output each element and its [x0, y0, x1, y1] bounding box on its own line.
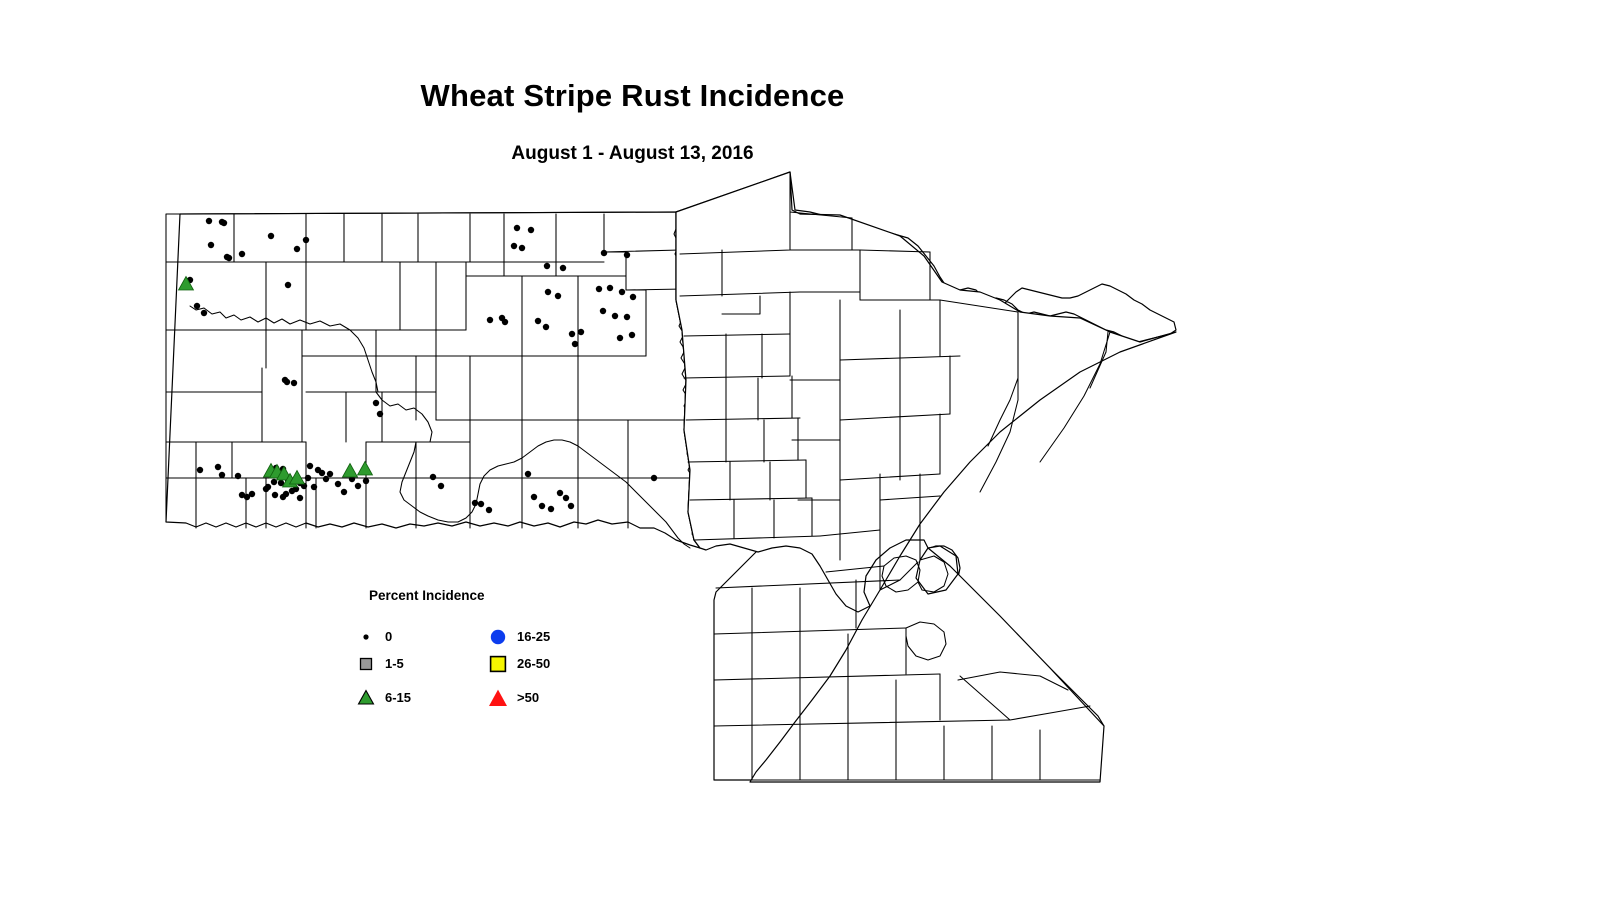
- map-point-0: [519, 245, 525, 251]
- map-point-0: [285, 282, 291, 288]
- legend-label-0: 0: [385, 629, 392, 644]
- map-point-0: [557, 490, 563, 496]
- nd-north-border: [180, 212, 676, 214]
- map-point-0: [284, 379, 290, 385]
- map-point-0: [272, 492, 278, 498]
- map-point-0: [601, 250, 607, 256]
- map-point-0: [297, 495, 303, 501]
- data-points-class-6-15: [179, 277, 373, 488]
- map-point-0: [545, 289, 551, 295]
- map-point-0: [630, 294, 636, 300]
- map-point-0: [578, 329, 584, 335]
- map-point-0: [528, 227, 534, 233]
- map-point-0: [373, 400, 379, 406]
- map-point-0: [629, 332, 635, 338]
- map-point-0: [543, 324, 549, 330]
- minnesota-boundary-main: [676, 172, 1176, 782]
- map-point-0: [215, 464, 221, 470]
- map-point-0: [303, 237, 309, 243]
- map-point-0: [235, 473, 241, 479]
- map-point-0: [535, 318, 541, 324]
- legend: Percent Incidence 0 1-5 6-15 16-25: [369, 588, 599, 718]
- map-counties-layer: [166, 172, 1176, 782]
- legend-label-gt50: >50: [517, 690, 539, 705]
- map-point-0: [377, 411, 383, 417]
- map-point-0: [487, 317, 493, 323]
- map-point-0: [430, 474, 436, 480]
- map-point-0: [268, 233, 274, 239]
- map-point-0: [363, 478, 369, 484]
- map-point-0: [311, 484, 317, 490]
- map-point-0: [486, 507, 492, 513]
- map-point-0: [355, 483, 361, 489]
- map-point-0: [263, 486, 269, 492]
- blue-circle-icon: [487, 626, 509, 648]
- map-point-0: [249, 491, 255, 497]
- map-point-0: [612, 313, 618, 319]
- map-point-0: [319, 470, 325, 476]
- map-point-0: [651, 475, 657, 481]
- map-point-0: [560, 265, 566, 271]
- map-page: Wheat Stripe Rust Incidence August 1 - A…: [0, 0, 1612, 900]
- small-dot-icon: [355, 626, 377, 648]
- map-point-0: [617, 335, 623, 341]
- map-point-0: [294, 246, 300, 252]
- legend-label-1-5: 1-5: [385, 656, 404, 671]
- map-point-0: [569, 331, 575, 337]
- map-point-0: [335, 481, 341, 487]
- map-point-0: [291, 380, 297, 386]
- legend-title: Percent Incidence: [369, 588, 485, 603]
- map-point-0: [327, 471, 333, 477]
- map-point-0: [525, 471, 531, 477]
- map-point-0: [600, 308, 606, 314]
- map-point-0: [531, 494, 537, 500]
- map-point-0: [568, 503, 574, 509]
- mn-line-s1: [716, 580, 900, 588]
- green-triangle-icon: [355, 687, 377, 709]
- map-point-0: [478, 501, 484, 507]
- map-point-0: [438, 483, 444, 489]
- map-point-6-15: [343, 464, 358, 478]
- map-point-0: [544, 263, 550, 269]
- legend-label-26-50: 26-50: [517, 656, 550, 671]
- legend-label-16-25: 16-25: [517, 629, 550, 644]
- map-point-0: [239, 251, 245, 257]
- lake-sakakawea-south: [376, 392, 432, 442]
- map-point-0: [514, 225, 520, 231]
- map-point-0: [555, 293, 561, 299]
- map-point-0: [323, 476, 329, 482]
- map-point-0: [341, 489, 347, 495]
- map-point-0: [607, 285, 613, 291]
- map-point-0: [208, 242, 214, 248]
- map-point-0: [502, 319, 508, 325]
- map-point-0: [624, 314, 630, 320]
- gray-square-icon: [355, 653, 377, 675]
- red-triangle-icon: [487, 687, 509, 709]
- map-point-0: [201, 310, 207, 316]
- map-point-0: [219, 472, 225, 478]
- map-point-0: [472, 500, 478, 506]
- map-point-0: [194, 303, 200, 309]
- map-point-0: [572, 341, 578, 347]
- yellow-square-icon: [487, 653, 509, 675]
- map-point-0: [619, 289, 625, 295]
- map-point-0: [221, 220, 227, 226]
- map-point-0: [305, 475, 311, 481]
- map-point-0: [197, 467, 203, 473]
- map-point-0: [206, 218, 212, 224]
- legend-label-6-15: 6-15: [385, 690, 411, 705]
- map-point-0: [624, 252, 630, 258]
- map-point-0: [563, 495, 569, 501]
- map-point-0: [539, 503, 545, 509]
- map-point-6-15: [358, 462, 373, 476]
- map-point-0: [511, 243, 517, 249]
- missouri-river-south: [400, 440, 690, 548]
- map-point-0: [548, 506, 554, 512]
- map-point-0: [596, 286, 602, 292]
- map-point-0: [307, 463, 313, 469]
- map-point-0: [226, 255, 232, 261]
- map-canvas: [0, 0, 1612, 900]
- map-point-0: [280, 494, 286, 500]
